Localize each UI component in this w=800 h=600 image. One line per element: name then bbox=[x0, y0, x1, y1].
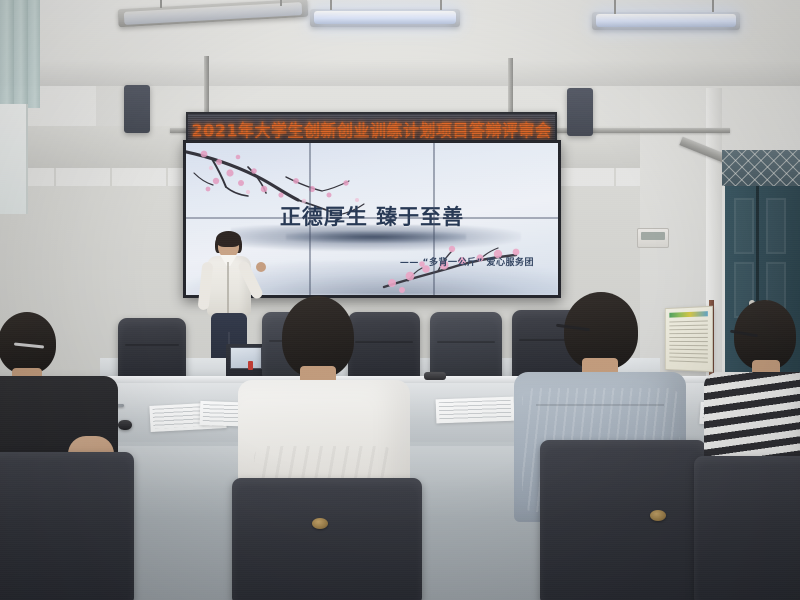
transom-security-grid bbox=[722, 150, 800, 186]
door-panel-right-upper bbox=[766, 198, 786, 254]
fluorescent-tube-right bbox=[596, 14, 736, 27]
slide-title: 正德厚生 臻于至善 bbox=[186, 201, 558, 231]
slide-subtitle: —— “多背一公斤” 爱心服务团 bbox=[400, 255, 534, 268]
paper-stack-right[interactable] bbox=[436, 397, 515, 424]
tube-hanger-left-b bbox=[280, 0, 282, 6]
tube-hanger-center-b bbox=[440, 0, 442, 10]
chair-far-1[interactable] bbox=[118, 318, 186, 380]
tube-hanger-center-a bbox=[330, 0, 332, 10]
attendee-right-mid-yoke-seam bbox=[536, 404, 664, 406]
presenter-hair bbox=[216, 231, 241, 247]
chair-medallion bbox=[312, 518, 328, 529]
paper-text-lines bbox=[439, 400, 512, 421]
presenter-shirt-placket bbox=[227, 262, 229, 314]
chair-left-front[interactable] bbox=[0, 452, 134, 600]
door-transom-window bbox=[722, 150, 800, 186]
screen-seam-horizontal-1 bbox=[186, 217, 558, 219]
screen-seam-vertical-1 bbox=[309, 143, 311, 295]
led-banner-text: 2021年大学生创新创业训练计划项目答辩评审会 bbox=[191, 116, 551, 141]
tube-hanger-right-a bbox=[614, 0, 616, 14]
desk-puck-device[interactable] bbox=[118, 420, 132, 430]
wall-control-panel-screen bbox=[641, 232, 665, 240]
conference-room-photo: 2021年大学生创新创业训练计划项目答辩评审会 bbox=[0, 0, 800, 600]
tube-hanger-right-b bbox=[712, 0, 714, 12]
chair-seam bbox=[437, 341, 495, 343]
chair-right-mid[interactable] bbox=[540, 440, 706, 600]
screen-seam-vertical-2 bbox=[433, 143, 435, 295]
presenter-hand-gesturing bbox=[256, 262, 266, 272]
wall-control-panel[interactable] bbox=[637, 228, 669, 248]
fluorescent-tube-center bbox=[314, 11, 456, 24]
chair-center-front[interactable] bbox=[232, 478, 422, 600]
ceiling-speaker-left bbox=[124, 85, 150, 133]
chair-far-4[interactable] bbox=[430, 312, 502, 380]
desk-microphone-base[interactable] bbox=[424, 372, 446, 380]
chair-seam bbox=[125, 344, 179, 346]
door-panel-left-upper bbox=[734, 198, 754, 254]
window-left bbox=[0, 104, 28, 214]
ceiling-speaker-right bbox=[567, 88, 593, 136]
chair-right-front[interactable] bbox=[694, 456, 800, 600]
window-curtain bbox=[0, 0, 40, 108]
chair-medallion bbox=[650, 510, 666, 521]
tube-hanger-left-a bbox=[160, 0, 162, 8]
